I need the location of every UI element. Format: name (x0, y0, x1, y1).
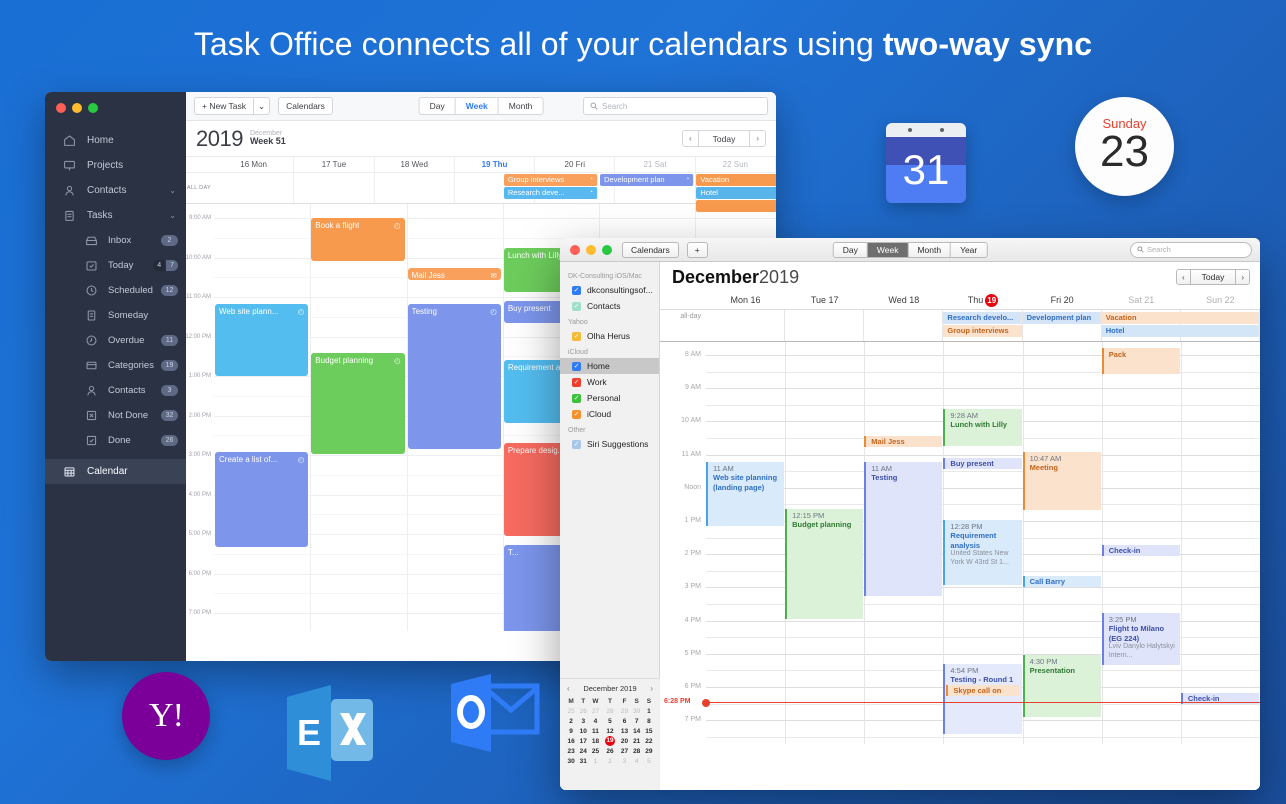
sidebar-badge: 3 (161, 385, 178, 396)
microsoft-exchange-logo: E (283, 683, 378, 783)
back-calendar-event[interactable]: Create a list of...◴ (215, 452, 308, 547)
front-calendar-event[interactable]: Check-in (1102, 545, 1180, 556)
back-allday-columns: Group interviews◔Research deve...◔Develo… (214, 173, 776, 203)
mini-day-cell[interactable]: 27 (589, 706, 601, 716)
mini-day-cell[interactable]: 1 (589, 756, 601, 766)
back-time-label-1: 10:00 AM (186, 255, 211, 261)
event-time: 4:30 PM (1030, 657, 1098, 666)
back-calendar-event[interactable]: Budget planning◴ (311, 353, 404, 454)
back-next-button[interactable]: › (750, 131, 765, 146)
mini-prev-button[interactable]: ‹ (567, 684, 570, 693)
mini-day-cell[interactable]: 3 (577, 716, 589, 726)
mini-day-cell[interactable]: 22 (643, 736, 655, 746)
mini-day-cell[interactable]: 31 (577, 756, 589, 766)
sidebar-item-calendar[interactable]: Calendar (45, 459, 186, 484)
front-view-year[interactable]: Year (951, 243, 986, 257)
calendar-checkbox[interactable]: ✓ (572, 362, 581, 371)
window-controls-front[interactable] (570, 245, 612, 255)
mini-weekday: S (631, 696, 643, 706)
event-title: Requirement a... (508, 363, 567, 373)
event-time: 3:25 PM (1109, 615, 1177, 624)
front-calendar-event[interactable]: Buy present (943, 458, 1021, 469)
mini-calendar-weekdays: MTWTFSS (565, 696, 655, 706)
front-allday-event[interactable]: Group interviews (943, 325, 1021, 337)
back-prev-button[interactable]: ‹ (683, 131, 699, 146)
event-title: Book a flight (315, 221, 359, 231)
calendar-item-icloud[interactable]: ✓iCloud (560, 406, 659, 422)
current-time-dot (702, 699, 710, 707)
mini-day-cell[interactable]: 2 (602, 756, 619, 766)
back-time-label-4: 1:00 PM (189, 373, 211, 379)
event-title: Create a list of... (219, 455, 277, 465)
front-allday-col-0[interactable] (706, 310, 785, 341)
front-day-header-0: Mon 16 (706, 292, 785, 309)
mini-day-today: 19 (605, 736, 615, 746)
clock-icon (83, 284, 99, 298)
search-icon (590, 102, 598, 110)
back-day-header-6: 22 Sun (696, 157, 776, 172)
event-title: T... (508, 548, 519, 558)
mini-day-cell[interactable]: 5 (643, 756, 655, 766)
calendar-item-contacts[interactable]: ✓Contacts (560, 298, 659, 314)
calendar-checkbox[interactable]: ✓ (572, 440, 581, 449)
mini-day-cell[interactable]: 20 (618, 736, 630, 746)
back-view-week[interactable]: Week (456, 98, 499, 114)
sidebar-item-overdue[interactable]: Overdue11 (45, 328, 186, 353)
front-month: December (672, 267, 759, 287)
mini-calendar[interactable]: ‹ December 2019 › MTWTFSS 25262728293012… (560, 678, 660, 790)
event-time: 9:28 AM (950, 411, 1018, 420)
sidebar-item-label: Not Done (108, 410, 148, 421)
sidebar-badge: 2 (161, 235, 178, 246)
mini-day-cell[interactable]: 3 (618, 756, 630, 766)
macos-calendar-window[interactable]: Calendars + DayWeekMonthYear Search DK-C… (560, 238, 1260, 790)
mini-day-cell[interactable]: 28 (602, 706, 619, 716)
back-allday-event[interactable]: Development plan◔ (600, 174, 694, 186)
chevron-down-icon[interactable]: ⌄ (169, 211, 176, 220)
front-calendar-event[interactable]: 12:15 PMBudget planning (785, 509, 863, 619)
minimize-button[interactable] (72, 103, 82, 113)
front-allday-col-1[interactable] (785, 310, 864, 341)
back-time-label-9: 6:00 PM (189, 571, 211, 577)
front-prev-button[interactable]: ‹ (1177, 270, 1191, 284)
calendar-group-label: iCloud (560, 344, 659, 358)
back-time-label-3: 12:00 PM (186, 334, 211, 340)
front-view-day[interactable]: Day (834, 243, 868, 257)
back-hour-line (214, 218, 776, 219)
calendar-name: Personal (587, 393, 621, 403)
apple-calendar-badge: Sunday 23 (1075, 97, 1174, 196)
front-allday-event[interactable]: Vacation (1102, 312, 1259, 324)
close-button[interactable] (56, 103, 66, 113)
sidebar-item-label: Someday (108, 310, 148, 321)
event-title: Prepare desig... (508, 446, 564, 456)
event-time: 11 AM (871, 464, 939, 473)
back-toolbar: + New Task ⌄ Calendars DayWeekMonth Sear… (186, 92, 776, 121)
task-office-sidebar: HomeProjectsContacts⌄Tasks⌄ Inbox2Today4… (45, 92, 186, 661)
new-task-button[interactable]: + New Task (194, 97, 253, 115)
front-half-hour-line (706, 405, 1260, 406)
mini-day-cell[interactable]: 6 (618, 716, 630, 726)
back-search-placeholder: Search (602, 102, 627, 111)
mini-week-row: 2345678 (565, 716, 655, 726)
front-time-label-7: 3 PM (685, 583, 701, 590)
mini-day-cell[interactable]: 5 (602, 716, 619, 726)
mini-week-row: 23242526272829 (565, 746, 655, 756)
mini-day-cell[interactable]: 19 (602, 736, 619, 746)
calendar-group-label: DK-Consulting iOS/Mac (560, 268, 659, 282)
back-time-label-5: 2:00 PM (189, 413, 211, 419)
back-datebar: 2019 December Week 51 ‹ Today › (186, 121, 776, 157)
front-calendar-event[interactable]: 10:47 AMMeeting (1023, 452, 1101, 510)
front-day-divider (1102, 342, 1103, 744)
calendar-checkbox[interactable]: ✓ (572, 394, 581, 403)
tasks-icon (61, 209, 77, 223)
event-title: Lunch with Lilly (508, 251, 562, 261)
front-allday-event[interactable]: Development plan (1023, 312, 1101, 324)
mini-calendar-grid[interactable]: MTWTFSS 25262728293012345678910111213141… (565, 696, 655, 766)
sidebar-item-tasks[interactable]: Tasks⌄ (45, 203, 186, 228)
sidebar-item-today[interactable]: Today47 (45, 253, 186, 278)
front-time-label-5: 1 PM (685, 517, 701, 524)
mini-day-cell[interactable]: 8 (643, 716, 655, 726)
event-title: Buy present (950, 459, 993, 468)
event-title: Flight to Milano (EG 224) (1109, 624, 1177, 643)
mini-weekday: M (565, 696, 577, 706)
back-calendar-event[interactable]: Book a flight◴ (311, 218, 404, 261)
calendar-icon (61, 465, 77, 479)
back-day-header-5: 21 Sat (615, 157, 695, 172)
calendars-button[interactable]: Calendars (278, 97, 333, 115)
ical-day: 23 (1100, 127, 1149, 177)
mini-calendar-days[interactable]: 2526272829301234567891011121314151617181… (565, 706, 655, 766)
back-today-button[interactable]: Today (699, 131, 751, 146)
mini-day-cell[interactable]: 11 (589, 726, 601, 736)
calendar-name: dkconsultingsof... (587, 285, 653, 295)
back-day-header-4: 20 Fri (535, 157, 615, 172)
sidebar-item-projects[interactable]: Projects (45, 153, 186, 178)
event-title: Development plan (604, 174, 664, 186)
calendar-item-dkconsultingsof[interactable]: ✓dkconsultingsof... (560, 282, 659, 298)
front-time-label-4: Noon (684, 484, 701, 491)
back-day-headers: 16 Mon17 Tue18 Wed19 Thu20 Fri21 Sat22 S… (186, 157, 776, 173)
close-button[interactable] (570, 245, 580, 255)
mini-day-cell[interactable]: 18 (589, 736, 601, 746)
mini-day-cell[interactable]: 21 (631, 736, 643, 746)
sidebar-item-someday[interactable]: Someday (45, 303, 186, 328)
back-allday-label: ALL DAY (186, 173, 214, 203)
event-title: Skype call on pr... (953, 686, 1001, 696)
categories-icon (83, 359, 99, 373)
front-calendar-event[interactable]: 9:28 AMLunch with Lilly (943, 409, 1021, 446)
calendar-item-personal[interactable]: ✓Personal (560, 390, 659, 406)
event-title: Web site planning (landing page) (713, 473, 781, 492)
back-time-axis: 9:00 AM10:00 AM11:00 AM12:00 PM1:00 PM2:… (186, 204, 214, 631)
current-time-indicator (706, 702, 1260, 703)
front-time-label-10: 6 PM (685, 683, 701, 690)
event-title: Mail Jess (412, 271, 445, 280)
window-controls-back[interactable] (56, 103, 98, 113)
event-title: Hotel (700, 187, 718, 199)
mini-weekday: T (577, 696, 589, 706)
back-view-switcher[interactable]: DayWeekMonth (419, 97, 544, 115)
mini-day-cell[interactable]: 13 (618, 726, 630, 736)
front-view-week[interactable]: Week (868, 243, 909, 257)
front-day-header-5: Sat 21 (1102, 292, 1181, 309)
sidebar-item-contacts[interactable]: Contacts⌄ (45, 178, 186, 203)
event-status-icon: ◔ (685, 174, 689, 186)
front-search-placeholder: Search (1147, 245, 1171, 254)
projects-icon (61, 159, 77, 173)
yahoo-logo: Y! (122, 672, 210, 760)
front-datebar: December2019 ‹ Today › (660, 262, 1260, 292)
back-allday-event[interactable]: Research deve...◔ (504, 187, 598, 199)
mini-day-cell[interactable]: 16 (565, 736, 577, 746)
promo-graphic: Task Office connects all of your calenda… (0, 0, 1286, 804)
calendar-name: Work (587, 377, 607, 387)
mini-day-cell[interactable]: 4 (589, 716, 601, 726)
mini-weekday: W (589, 696, 601, 706)
back-calendar-event[interactable]: Mail Jess✉ (408, 268, 501, 280)
event-status-icon: ◔ (589, 174, 593, 186)
sidebar-item-inbox[interactable]: Inbox2 (45, 228, 186, 253)
event-title: Check-in (1109, 546, 1141, 555)
calendar-item-siri-suggestions[interactable]: ✓Siri Suggestions (560, 436, 659, 452)
sidebar-item-label: Inbox (108, 235, 131, 246)
back-allday-col-1[interactable] (294, 173, 374, 203)
mini-day-cell[interactable]: 27 (618, 746, 630, 756)
back-allday-col-2[interactable] (375, 173, 455, 203)
sidebar-item-label: Calendar (87, 466, 128, 477)
mini-day-cell[interactable]: 15 (643, 726, 655, 736)
calendar-checkbox[interactable]: ✓ (572, 286, 581, 295)
front-view-switcher[interactable]: DayWeekMonthYear (833, 242, 988, 258)
minimize-button[interactable] (586, 245, 596, 255)
front-time-label-9: 5 PM (685, 650, 701, 657)
front-time-label-6: 2 PM (685, 550, 701, 557)
calendar-checkbox[interactable]: ✓ (572, 302, 581, 311)
event-time: 4:54 PM (950, 666, 1018, 675)
event-status-icon: ◔ (589, 187, 593, 199)
sidebar-bottom-item: Calendar (45, 459, 186, 484)
mini-week-row: 9101112131415 (565, 726, 655, 736)
mini-day-cell[interactable]: 26 (577, 706, 589, 716)
mini-day-cell[interactable]: 25 (589, 746, 601, 756)
mini-day-cell[interactable]: 26 (602, 746, 619, 756)
front-today-button[interactable]: Today (1191, 270, 1237, 284)
sidebar-item-not-done[interactable]: Not Done32 (45, 403, 186, 428)
front-time-label-2: 10 AM (681, 417, 701, 424)
front-timed-body[interactable]: 8 AM9 AM10 AM11 AMNoon1 PM2 PM3 PM4 PM5 … (660, 342, 1260, 744)
front-view-month[interactable]: Month (908, 243, 951, 257)
front-calendar-event[interactable]: 4:30 PMPresentation (1023, 655, 1101, 717)
back-allday-event[interactable]: Hotel◔ (696, 187, 776, 199)
calendar-name: Home (587, 361, 610, 371)
back-day-header-3: 19 Thu (455, 157, 535, 172)
front-calendar-event[interactable]: 3:25 PMFlight to Milano (EG 224)Lviv Dan… (1102, 613, 1180, 665)
front-half-hour-line (706, 471, 1260, 472)
clock-back-icon (83, 334, 99, 348)
mini-day-cell[interactable]: 10 (577, 726, 589, 736)
mini-day-cell[interactable]: 17 (577, 736, 589, 746)
zoom-button[interactable] (88, 103, 98, 113)
front-allday-event[interactable]: Research develo... (943, 312, 1021, 324)
front-hour-line (706, 455, 1260, 456)
front-main: December2019 ‹ Today › Mon 16Tue 17Wed 1… (660, 262, 1260, 790)
sidebar-badge: 12 (161, 285, 178, 296)
calendar-group-label: Other (560, 422, 659, 436)
mini-day-cell[interactable]: 1 (643, 706, 655, 716)
sidebar-item-categories[interactable]: Categories19 (45, 353, 186, 378)
back-time-label-8: 5:00 PM (189, 531, 211, 537)
svg-text:E: E (297, 712, 321, 753)
front-allday-col-2[interactable] (864, 310, 943, 341)
calendar-item-home[interactable]: ✓Home (560, 358, 659, 374)
calendar-item-olha-herus[interactable]: ✓Olha Herus (560, 328, 659, 344)
sidebar-task-items: Inbox2Today47Scheduled12SomedayOverdue11… (45, 228, 186, 453)
back-allday-row: ALL DAY Group interviews◔Research deve..… (186, 173, 776, 204)
headline-emphasis: two-way sync (883, 26, 1092, 62)
sidebar-item-label: Scheduled (108, 285, 153, 296)
back-view-day[interactable]: Day (420, 98, 456, 114)
front-toolbar: Calendars + DayWeekMonthYear Search (560, 238, 1260, 262)
back-allday-event[interactable]: Group interviews◔ (504, 174, 598, 186)
sidebar-badge: 47 (153, 260, 178, 271)
front-calendars-button[interactable]: Calendars (622, 242, 679, 258)
front-day-divider (1181, 342, 1182, 744)
sidebar-item-done[interactable]: Done26 (45, 428, 186, 453)
mini-weekday: T (602, 696, 619, 706)
calendar-name: iCloud (587, 409, 611, 419)
mini-day-cell[interactable]: 9 (565, 726, 577, 736)
calendar-groups: DK-Consulting iOS/Mac✓dkconsultingsof...… (560, 268, 659, 452)
mini-day-cell[interactable]: 25 (565, 706, 577, 716)
sidebar-item-label: Tasks (87, 210, 113, 221)
front-day-label: Thu (968, 295, 984, 305)
mini-day-cell[interactable]: 29 (643, 746, 655, 756)
mini-day-cell[interactable]: 14 (631, 726, 643, 736)
front-nav-group[interactable]: ‹ Today › (1176, 269, 1250, 285)
front-day-header-3: Thu19 (943, 292, 1022, 309)
front-next-button[interactable]: › (1236, 270, 1249, 284)
event-status-icon: ◴ (391, 221, 401, 230)
sidebar-item-label: Done (108, 435, 131, 446)
sidebar-top-items: HomeProjectsContacts⌄Tasks⌄ (45, 128, 186, 228)
back-search-field[interactable]: Search (583, 97, 768, 115)
inbox-icon (83, 234, 99, 248)
mini-day-cell[interactable]: 28 (631, 746, 643, 756)
front-half-hour-line (706, 504, 1260, 505)
front-allday-row: all-day Research develo...Group intervie… (660, 309, 1260, 342)
back-time-label-0: 9:00 AM (189, 215, 211, 221)
new-task-caret[interactable]: ⌄ (253, 97, 270, 115)
back-day-header-2: 18 Wed (375, 157, 455, 172)
front-calendar-event[interactable]: 4:54 PMTesting - Round 1 (943, 664, 1021, 734)
mini-week-row: 303112345 (565, 756, 655, 766)
front-calendar-event[interactable]: Skype call on pr... (946, 685, 1018, 696)
sidebar-badge: 32 (161, 410, 178, 421)
event-location: Lviv Danylo Halytskyi Intern... (1109, 643, 1177, 661)
back-day-header-0: 16 Mon (214, 157, 294, 172)
mini-calendar-header: ‹ December 2019 › (565, 684, 655, 696)
calendar-item-work[interactable]: ✓Work (560, 374, 659, 390)
front-time-label-1: 9 AM (685, 384, 701, 391)
mini-day-cell[interactable]: 23 (565, 746, 577, 756)
mini-day-cell[interactable]: 30 (631, 706, 643, 716)
calendar-checkbox[interactable]: ✓ (572, 378, 581, 387)
gcal-day: 31 (886, 137, 966, 203)
calendar-name: Contacts (587, 301, 621, 311)
mini-day-cell[interactable]: 24 (577, 746, 589, 756)
sidebar-item-label: Overdue (108, 335, 144, 346)
calendar-checkbox[interactable]: ✓ (572, 410, 581, 419)
back-nav-group[interactable]: ‹ Today › (682, 130, 766, 147)
front-day-headers: Mon 16Tue 17Wed 18Thu19Fri 20Sat 21Sun 2… (660, 292, 1260, 309)
mini-next-button[interactable]: › (650, 684, 653, 693)
front-calendar-event[interactable]: Mail Jess (864, 436, 942, 447)
back-allday-event[interactable]: Vacation◔ (696, 174, 776, 186)
mini-day-cell[interactable]: 7 (631, 716, 643, 726)
sidebar-item-label: Today (108, 260, 133, 271)
event-status-icon: ◴ (295, 307, 305, 316)
front-date-title: December2019 (672, 267, 799, 288)
front-allday-event[interactable]: Hotel (1102, 325, 1259, 337)
event-title: Pack (1109, 350, 1177, 359)
front-calendar-event[interactable]: 11 AMWeb site planning (landing page) (706, 462, 784, 526)
back-time-label-7: 4:00 PM (189, 492, 211, 498)
front-time-label-3: 11 AM (682, 451, 701, 458)
mini-weekday: F (618, 696, 630, 706)
back-allday-col-0[interactable] (214, 173, 294, 203)
headline-lead: Task Office connects all of your calenda… (194, 26, 883, 62)
zoom-button[interactable] (602, 245, 612, 255)
back-time-label-6: 3:00 PM (189, 452, 211, 458)
back-year: 2019 (196, 126, 243, 152)
sidebar-item-scheduled[interactable]: Scheduled12 (45, 278, 186, 303)
today-badge: 19 (985, 294, 998, 307)
back-week: Week 51 (250, 137, 286, 146)
front-calendar-event[interactable]: Call Barry (1023, 576, 1101, 587)
today-icon (83, 259, 99, 273)
back-time-label-10: 7:00 PM (189, 610, 211, 616)
home-icon (61, 134, 77, 148)
back-view-month[interactable]: Month (499, 98, 543, 114)
back-calendar-event[interactable]: Testing◴ (408, 304, 501, 449)
calendar-name: Siri Suggestions (587, 439, 648, 449)
mini-day-cell[interactable]: 2 (565, 716, 577, 726)
calendar-checkbox[interactable]: ✓ (572, 332, 581, 341)
front-hour-line (706, 488, 1260, 489)
mini-day-cell[interactable]: 29 (618, 706, 630, 716)
front-search-field[interactable]: Search (1130, 242, 1252, 258)
front-calendar-event[interactable]: Pack (1102, 348, 1180, 374)
mini-day-cell[interactable]: 12 (602, 726, 619, 736)
front-day-header-6: Sun 22 (1181, 292, 1260, 309)
mini-day-cell[interactable]: 30 (565, 756, 577, 766)
gcal-binder (886, 123, 966, 137)
sidebar-item-home[interactable]: Home (45, 128, 186, 153)
back-day-header-1: 17 Tue (294, 157, 374, 172)
front-calendar-event[interactable]: 11 AMTesting (864, 462, 942, 596)
back-calendar-event[interactable]: Web site plann...◴ (215, 304, 308, 376)
front-calendar-event[interactable]: 12:28 PMRequirement analysisUnited State… (943, 520, 1021, 585)
mini-day-cell[interactable]: 4 (631, 756, 643, 766)
front-time-label-8: 4 PM (685, 617, 701, 624)
front-allday-columns: Research develo...Group interviewsDevelo… (706, 310, 1260, 341)
front-add-button[interactable]: + (687, 242, 708, 258)
chevron-down-icon[interactable]: ⌄ (169, 186, 176, 195)
sidebar-item-contacts[interactable]: Contacts3 (45, 378, 186, 403)
